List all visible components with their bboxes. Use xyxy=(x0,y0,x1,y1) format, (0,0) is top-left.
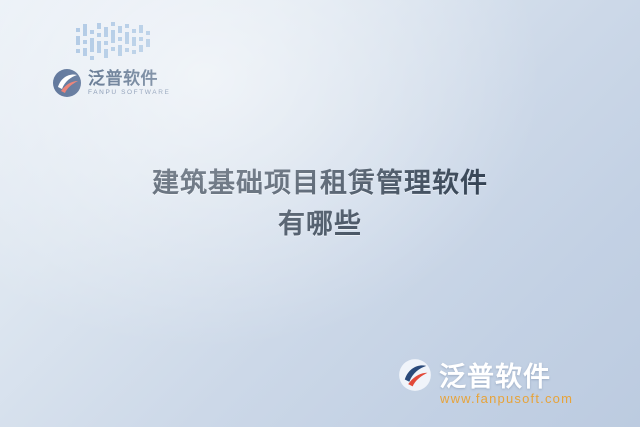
watermark-url: www.fanpusoft.com xyxy=(440,391,573,406)
pixel-blocks-svg xyxy=(74,22,152,72)
logo-company-en: FANPU SOFTWARE xyxy=(88,90,170,97)
watermark-logo-svg xyxy=(398,358,432,392)
page-title-line-1: 建筑基础项目租赁管理软件 xyxy=(152,168,488,198)
brand-logo: 泛普软件 FANPU SOFTWARE xyxy=(52,22,172,110)
watermark-company-cn: 泛普软件 xyxy=(439,355,551,394)
fanpu-swirl-logo-svg xyxy=(52,68,82,98)
page-title: 建筑基础项目租赁管理软件 有哪些 xyxy=(0,163,640,245)
watermark-lockup: 泛普软件 xyxy=(398,355,551,394)
slide-canvas: 泛普软件 FANPU SOFTWARE 建筑基础项目租赁管理软件 有哪些 泛普软… xyxy=(0,0,640,427)
fanpu-swirl-logo-icon xyxy=(398,358,432,392)
pixel-blocks-decoration xyxy=(74,22,152,72)
watermark: 泛普软件 www.fanpusoft.com xyxy=(398,355,630,413)
logo-company-cn: 泛普软件 xyxy=(88,70,170,87)
page-title-line-2: 有哪些 xyxy=(0,204,640,245)
fanpu-swirl-logo-icon xyxy=(52,68,82,98)
logo-text: 泛普软件 FANPU SOFTWARE xyxy=(88,70,170,97)
logo-lockup: 泛普软件 FANPU SOFTWARE xyxy=(52,68,170,98)
